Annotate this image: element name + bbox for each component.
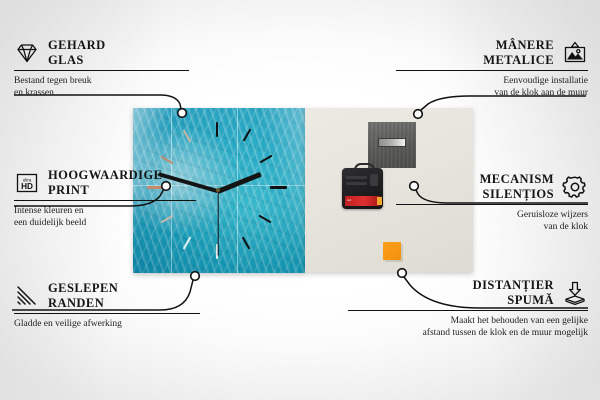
down-arrow-pad-icon	[562, 280, 588, 306]
diagonal-lines-icon	[14, 283, 40, 309]
ultra-hd-icon: ultra HD	[14, 170, 40, 196]
feature-title: MECANISM SILENȚIOS	[480, 172, 554, 201]
feature-desc-line: van de klok aan de muur	[396, 87, 588, 99]
wire-dot-gehard-glas	[178, 109, 187, 118]
feature-rule	[396, 70, 588, 71]
feature-title: DISTANȚIER SPUMĂ	[473, 278, 554, 307]
wire-dot-distantier-spuma	[398, 269, 407, 278]
feature-rule	[396, 204, 588, 205]
feature-head: GEHARD GLAS	[14, 38, 189, 67]
feature-desc-line: Bestand tegen breuk	[14, 75, 189, 87]
feature-desc-line: een duidelijk beeld	[14, 217, 196, 229]
feature-gehard-glas: GEHARD GLAS Bestand tegen breuk en krass…	[14, 38, 189, 99]
wire-dot-geslepen-randen	[191, 272, 200, 281]
feature-desc-line: Geruisloze wijzers	[396, 209, 588, 221]
diamond-icon	[14, 40, 40, 66]
infographic-canvas: AA GEHARD	[0, 0, 600, 400]
feature-rule	[14, 313, 200, 314]
feature-head: MECANISM SILENȚIOS	[396, 172, 588, 201]
gear-icon	[562, 174, 588, 200]
feature-title: GESLEPEN RANDEN	[48, 281, 118, 310]
feature-rule	[14, 70, 189, 71]
feature-desc-line: Eenvoudige installatie	[396, 75, 588, 87]
feature-desc-line: en krassen	[14, 87, 189, 99]
feature-head: MÂNERE METALICE	[396, 38, 588, 67]
feature-title: HOOGWAARDIGE PRINT	[48, 168, 162, 197]
feature-head: ultra HD HOOGWAARDIGE PRINT	[14, 168, 196, 197]
feature-head: GESLEPEN RANDEN	[14, 281, 200, 310]
feature-desc-line: Maakt het behouden van een gelijke	[348, 315, 588, 327]
feature-desc-line: afstand tussen de klok en de muur mogeli…	[348, 327, 588, 339]
feature-desc-line: Intense kleuren en	[14, 205, 196, 217]
svg-text:HD: HD	[21, 182, 33, 191]
feature-desc-line: van de klok	[396, 221, 588, 233]
feature-distantier-spuma: DISTANȚIER SPUMĂ Maakt het behouden van …	[348, 278, 588, 339]
feature-rule	[348, 310, 588, 311]
feature-geslepen-randen: GESLEPEN RANDEN Gladde en veilige afwerk…	[14, 281, 200, 330]
feature-title: MÂNERE METALICE	[483, 38, 554, 67]
feature-head: DISTANȚIER SPUMĂ	[348, 278, 588, 307]
framed-picture-icon	[562, 40, 588, 66]
feature-mecanism-silentios: MECANISM SILENȚIOS Geruisloze wijzers va…	[396, 172, 588, 233]
wire-dot-manere-metalice	[414, 110, 423, 119]
feature-rule	[14, 200, 196, 201]
feature-desc-line: Gladde en veilige afwerking	[14, 318, 200, 330]
feature-manere-metalice: MÂNERE METALICE Eenvoudige installatie v…	[396, 38, 588, 99]
feature-title: GEHARD GLAS	[48, 38, 106, 67]
feature-hoogwaardige-print: ultra HD HOOGWAARDIGE PRINT Intense kleu…	[14, 168, 196, 229]
